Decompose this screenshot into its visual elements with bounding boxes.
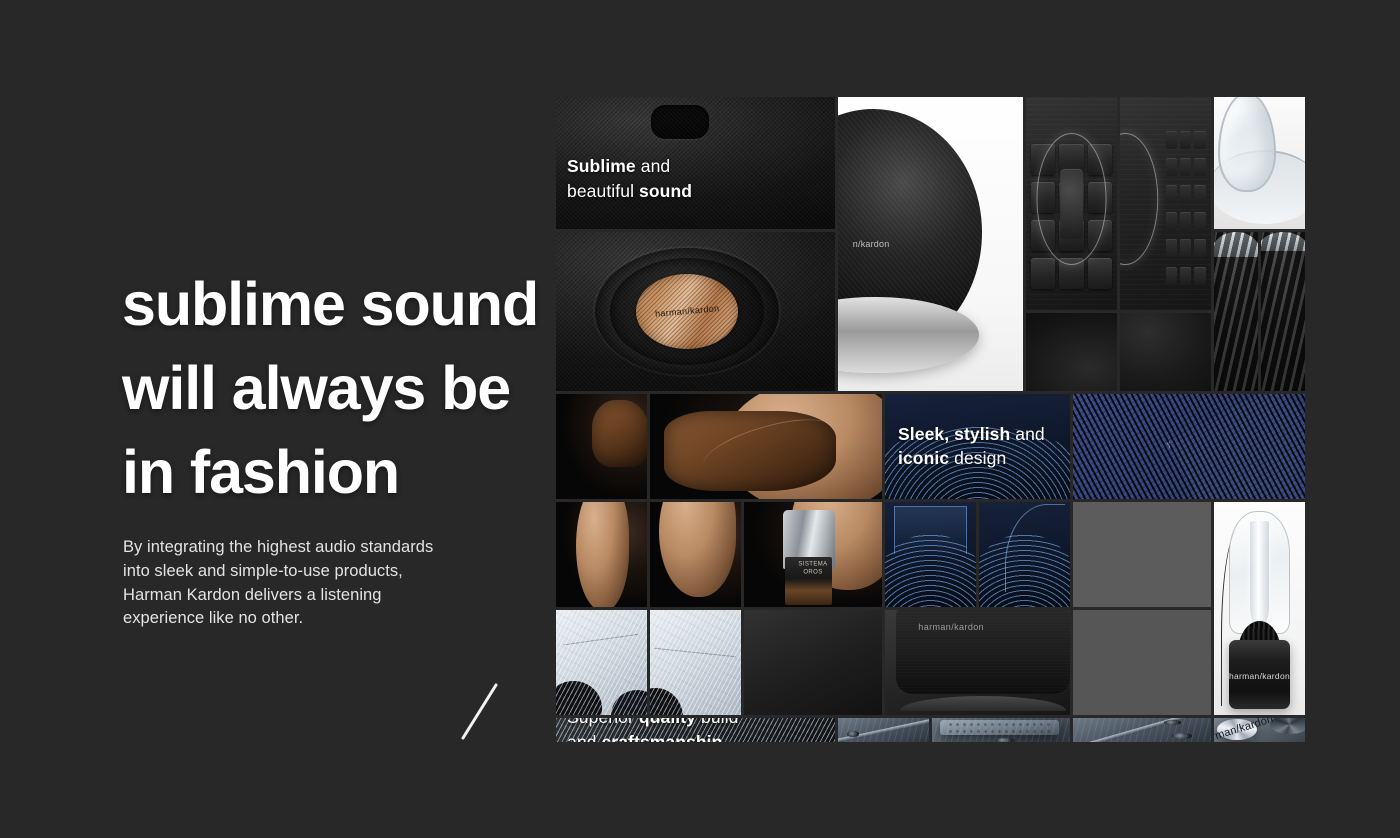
caption-bold-1: Sublime [567,156,636,176]
page-title: sublime sound will always be in fashion [122,262,538,515]
tile-superior-quality[interactable]: Superior quality build and craftsmanship [556,718,835,742]
sketch-surface-right-photo [650,610,741,715]
tool-stamp-text: SISTEMA OROS [798,562,827,577]
tile-cad-curve[interactable] [979,502,1070,607]
caption-sleek-stylish: Sleek, stylish and iconic design [898,422,1045,472]
tile-mold-mid[interactable] [932,718,1070,742]
craft-hand-photo [650,502,741,607]
caption-bold-5: quality [639,718,696,728]
mold-bolt-2 [995,738,1014,742]
tile-mold-left[interactable] [838,718,929,742]
mold-dot-pattern [947,721,1051,734]
aura-core-driver [1250,521,1268,628]
tile-dark-texture-a[interactable] [1026,313,1117,391]
mold-rail-2 [1073,718,1211,742]
fluted-base-rim-right [1261,232,1305,251]
tile-remote-left[interactable] [1026,97,1117,310]
tile-craft-dark[interactable] [556,502,647,607]
caption-superior-quality: Superior quality build and craftsmanship [567,718,738,742]
aura-base-logo-text: harman/kardon [1229,671,1290,681]
mold-bolt-3 [1164,720,1181,725]
sketch-cutout-2 [611,690,647,715]
tile-tool-stamp[interactable]: SISTEMA OROS [744,502,882,607]
tile-dark-texture-b[interactable] [1120,313,1211,391]
glass-dome-shape [1218,97,1276,192]
fluted-base-photo-left [1214,232,1258,391]
tile-grey-panel-top[interactable] [1073,502,1211,607]
tile-soundbar[interactable]: harman/kardon [885,610,1070,715]
sketch-cutout-1 [556,681,602,715]
driver-logo-text: harman/kardon [655,304,720,320]
remote-buttons-photo [1026,97,1117,310]
brand-slash-icon [455,676,505,746]
mesh-chrome-edge [1167,394,1305,499]
tool-stamp-photo: SISTEMA OROS [744,502,882,607]
cad-wireframe-body [894,506,967,554]
caption-text-1: and [636,156,670,176]
caption-text-7: and [567,732,601,742]
tile-leather-hands[interactable] [650,394,882,499]
hand-3 [659,502,735,597]
hand-2 [576,502,629,607]
tile-aluminium-disc[interactable]: harman/kardon [1214,718,1305,742]
tile-dark-texture-c[interactable] [744,610,882,715]
caption-bold-3: Sleek, stylish [898,424,1010,444]
aluminium-disc-primary: harman/kardon [1217,719,1257,740]
tile-sketch-left[interactable] [556,610,647,715]
aura-base: harman/kardon [1229,640,1289,708]
tile-sketch-right[interactable] [650,610,741,715]
remote-keypad-photo [1120,97,1211,310]
blue-mesh-photo [1073,394,1305,499]
mold-right-photo [1073,718,1211,742]
hero-body-text: By integrating the highest audio standar… [123,536,433,631]
fluted-base-rim-left [1214,232,1258,257]
aluminium-disc-secondary [1270,718,1305,734]
stamp-line-1: SISTEMA [798,562,827,570]
driver-inner-ring: harman/kardon [610,258,765,365]
speaker-handle [651,105,710,139]
disc-logo-text: harman/kardon [1214,718,1275,742]
mold-bolt-1 [847,731,859,736]
mold-corner-photo [932,718,1070,742]
soundbar-logo-text: harman/kardon [918,622,984,632]
stamp-line-2: OROS [798,569,827,577]
mold-bolt-4 [1172,733,1191,739]
sketch-line-1 [564,634,640,646]
sketch-surface-left-photo [556,610,647,715]
tile-fluted-base-left[interactable] [1214,232,1258,391]
remote-key-column [1166,131,1206,284]
copper-cone: harman/kardon [636,274,738,349]
aluminium-disc-photo: harman/kardon [1214,718,1305,742]
grey-panel-b [1073,610,1211,715]
mold-left-photo [838,718,929,742]
image-mosaic: Sublime and beautiful sound harman/kardo… [556,97,1305,742]
tile-craft-hand[interactable] [650,502,741,607]
tile-dark-headphone[interactable] [556,394,647,499]
tile-glass-dome[interactable] [1214,97,1305,229]
headphone-earcup [592,400,647,467]
copper-driver-photo: harman/kardon [556,232,835,391]
mold-plate [940,720,1059,735]
tile-fluted-base-right[interactable] [1261,232,1305,391]
caption-text-6: build [696,718,738,728]
tile-blue-mesh[interactable] [1073,394,1305,499]
tile-grey-panel-bottom[interactable] [1073,610,1211,715]
driver-outer-ring: harman/kardon [595,248,779,375]
cad-wireframe-curve [1005,504,1065,592]
tile-aura-product[interactable]: harman/kardon [1214,502,1305,715]
sketch-cutout-3 [650,688,683,715]
cad-body-photo [885,502,976,607]
tile-sleek-stylish[interactable]: Sleek, stylish and iconic design [885,394,1070,499]
caption-text-2: beautiful [567,181,639,201]
leather-headphone-photo [650,394,882,499]
caption-bold-4: iconic [898,449,949,469]
grey-panel-a [1073,502,1211,607]
sketch-line-2 [654,648,736,658]
caption-text-4: design [949,449,1006,469]
tile-cad-body[interactable] [885,502,976,607]
aura-studio-photo: harman/kardon [1214,502,1305,715]
caption-bold-6: craftsmanship [601,732,722,742]
hero-page: Sublime and beautiful sound harman/kardo… [0,0,1400,838]
dark-headphone-photo [556,394,647,499]
caption-sublime-sound: Sublime and beautiful sound [567,154,692,204]
tile-speaker-textured[interactable]: Sublime and beautiful sound [556,97,835,229]
onyx-logo-text: n/kardon [853,239,890,249]
tile-copper-driver[interactable]: harman/kardon [556,232,835,391]
caption-text-3: and [1010,424,1044,444]
mold-rail-1 [838,718,929,742]
caption-text-5: Superior [567,718,639,728]
caption-bold-2: sound [639,181,692,201]
tile-remote-right[interactable] [1120,97,1211,310]
craft-dark-photo [556,502,647,607]
remote-dial-ring-2 [1120,133,1158,265]
cad-curve-photo [979,502,1070,607]
fluted-base-photo-right [1261,232,1305,391]
remote-dial-hub [1060,168,1084,238]
glass-dome-photo [1214,97,1305,229]
soundbar-lip [900,696,1067,711]
soundbar-photo: harman/kardon [885,610,1070,715]
tile-onyx-dome[interactable]: n/kardon [838,97,1023,391]
tile-mold-right[interactable] [1073,718,1211,742]
onyx-dome-photo: n/kardon [838,97,1023,391]
